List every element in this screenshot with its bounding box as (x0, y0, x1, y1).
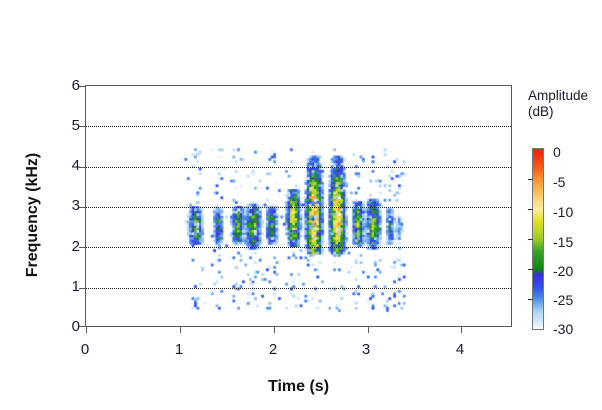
colorbar-label-m25: -25 (553, 292, 573, 308)
plot-area (85, 85, 512, 327)
colorbar-gradient (532, 148, 544, 330)
colorbar-tick--15 (528, 239, 533, 240)
x-tick-4 (461, 326, 462, 333)
x-tick-label-0: 0 (65, 341, 105, 358)
gridline-1khz (86, 288, 511, 289)
x-tick-label-4: 4 (440, 341, 480, 358)
x-tick-label-1: 1 (159, 341, 199, 358)
x-tick-2 (274, 326, 275, 333)
x-tick-3 (368, 326, 369, 333)
y-tick-label-1: 1 (40, 278, 80, 295)
gridline-2khz (86, 247, 511, 248)
colorbar-tick--10 (528, 209, 533, 210)
colorbar-label-m30: -30 (553, 321, 573, 337)
colorbar-tick--25 (528, 299, 533, 300)
gridline-5khz (86, 126, 511, 127)
gridline-3khz (86, 207, 511, 208)
gridline-4khz (86, 167, 511, 168)
y-tick-0 (79, 326, 86, 327)
y-tick-2 (79, 247, 86, 248)
colorbar-title: Amplitude(dB) (528, 88, 588, 120)
y-tick-6 (79, 86, 86, 87)
colorbar-tick--20 (528, 269, 533, 270)
y-tick-label-4: 4 (40, 157, 80, 174)
colorbar-label-m10: -10 (553, 204, 573, 220)
x-axis-title: Time (s) (85, 378, 512, 396)
x-tick-label-3: 3 (346, 341, 386, 358)
x-tick-1 (180, 326, 181, 333)
spectrogram-image (86, 86, 511, 326)
colorbar-title-line2: (dB) (528, 104, 554, 119)
y-tick-3 (79, 207, 86, 208)
y-tick-label-0: 0 (40, 318, 80, 335)
colorbar-tick--5 (528, 179, 533, 180)
y-tick-label-2: 2 (40, 238, 80, 255)
y-tick-5 (79, 126, 86, 127)
colorbar-label-m15: -15 (553, 234, 573, 250)
x-tick-0 (86, 326, 87, 333)
y-tick-1 (79, 288, 86, 289)
colorbar-title-line1: Amplitude (528, 88, 588, 103)
x-tick-label-2: 2 (253, 341, 293, 358)
colorbar-label-0: 0 (553, 144, 561, 160)
colorbar-label-m5: -5 (553, 174, 565, 190)
y-tick-label-6: 6 (40, 77, 80, 94)
colorbar-label-m20: -20 (553, 263, 573, 279)
spectrogram-canvas-holder (86, 86, 511, 326)
y-tick-label-3: 3 (40, 197, 80, 214)
y-tick-4 (79, 167, 86, 168)
spectrogram-figure: Frequency (kHz) 6 5 4 3 2 1 0 0 1 2 3 (0, 0, 602, 410)
y-tick-label-5: 5 (40, 117, 80, 134)
